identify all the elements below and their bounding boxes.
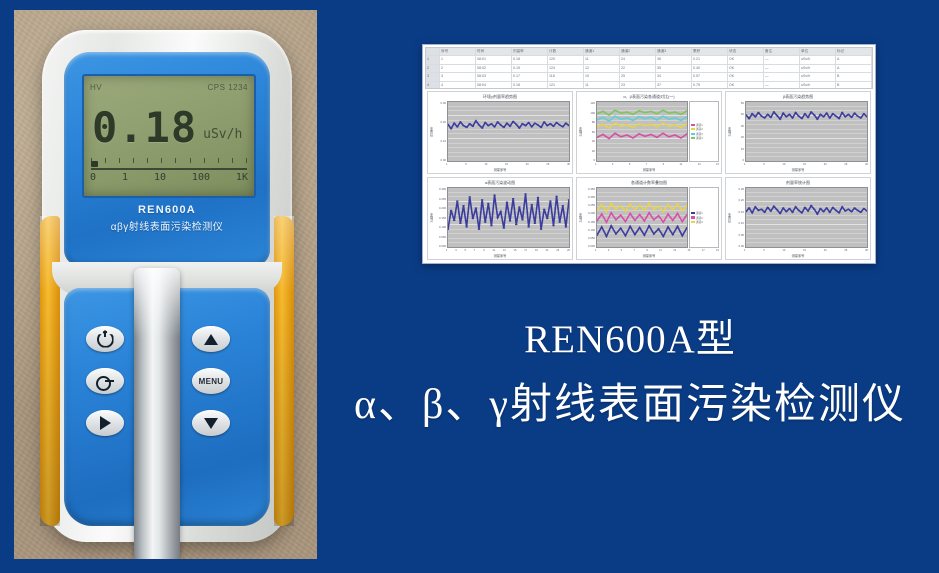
- chart-y-tick: 0.050: [434, 235, 446, 239]
- chart-body: 计数率120100806040200通道1通道2通道3通道4: [577, 100, 721, 162]
- power-button[interactable]: [86, 326, 124, 352]
- chart-y-axis-label: 剂量率: [727, 213, 732, 223]
- chart-legend-swatch: [691, 133, 695, 135]
- chart-legend-swatch: [691, 212, 695, 214]
- key-icon: [96, 376, 114, 387]
- chart-plot-area: [596, 187, 688, 248]
- table-column-header: 剂量率: [512, 48, 548, 55]
- table-cell: 08:04: [476, 82, 512, 89]
- table-cell: OK: [728, 73, 764, 80]
- table-cell: 08:01: [476, 56, 512, 63]
- table-cell: uSv/h: [800, 82, 836, 89]
- table-cell: 0.75: [692, 82, 728, 89]
- chart-plot-area: [447, 187, 570, 248]
- lcd-reading: 0.18 uSv/h: [92, 102, 248, 154]
- chart-y-tick: 0.150: [434, 216, 446, 220]
- chart-y-tick: 100: [583, 111, 595, 115]
- row-header-cell: 1: [426, 56, 440, 63]
- table-cell: 120: [548, 56, 584, 63]
- table-cell: 121: [548, 82, 584, 89]
- chart-legend-label: 通道4: [696, 136, 703, 140]
- chart-legend-item: 通道4: [691, 136, 717, 140]
- table-column-header: 通道1: [584, 48, 620, 55]
- chart-y-tick: 0.150: [583, 220, 595, 224]
- chart-x-axis-label: 测量序号: [726, 253, 870, 259]
- chart-legend-label: 通道2: [696, 216, 703, 220]
- device-model-description: αβγ射线表面污染检测仪: [64, 218, 270, 233]
- lcd-status-right: CPS 1234: [208, 83, 248, 92]
- upper-faceplate: HV CPS 1234 0.18 uSv/h 0: [64, 52, 270, 266]
- chart-x-axis-label: 测量序号: [577, 167, 721, 173]
- chart-x-axis-label: 测量序号: [726, 167, 870, 173]
- lcd-status-row: HV CPS 1234: [90, 81, 248, 94]
- row-header-cell: [426, 48, 440, 55]
- chart-y-tick: 0.050: [583, 236, 595, 240]
- arrow-up-icon: [204, 334, 218, 345]
- table-cell: 0.19: [512, 65, 548, 72]
- table-cell: B: [836, 82, 872, 89]
- device-photograph: HV CPS 1234 0.18 uSv/h 0: [14, 10, 317, 559]
- table-column-header: 累积: [692, 48, 728, 55]
- table-cell: 08:02: [476, 65, 512, 72]
- chart-legend: 通道1通道2通道3: [689, 187, 719, 248]
- chart-legend-item: 通道3: [691, 220, 717, 224]
- table-row: 2208:020.191241222350.40OK—uSv/hA: [426, 65, 872, 73]
- row-header-cell: 3: [426, 73, 440, 80]
- table-cell: 34: [656, 73, 692, 80]
- table-cell: 4: [440, 82, 476, 89]
- table-cell: OK: [728, 65, 764, 72]
- chart-card: β表面污染趋势图计数率50403020100151015202530测量序号: [725, 91, 871, 174]
- table-cell: uSv/h: [800, 65, 836, 72]
- chart-y-tick: 0.100: [583, 228, 595, 232]
- chart-legend-label: 通道1: [696, 211, 703, 215]
- chart-y-ticks: 0.250.200.150.100.050.00: [732, 187, 745, 248]
- chart-body: 计数率50403020100: [726, 100, 870, 162]
- lcd-scale-tick: 10: [154, 172, 166, 183]
- chart-y-tick: 0.300: [583, 195, 595, 199]
- chart-y-tick: 0.100: [434, 225, 446, 229]
- lcd-scale-tick: 100: [192, 172, 210, 183]
- table-cell: A: [836, 65, 872, 72]
- chart-y-tick: 0.30: [434, 101, 446, 105]
- product-description-title: α、β、γ射线表面污染检测仪: [330, 379, 930, 432]
- table-cell: 0.21: [692, 56, 728, 63]
- chart-y-tick: 30: [732, 124, 744, 128]
- chart-y-tick: 20: [732, 135, 744, 139]
- software-screenshot-panel: 序号时间剂量率计数通道1通道2通道3累积状态备注单位标记1108:010.181…: [422, 44, 876, 264]
- chart-x-axis-label: 测量序号: [428, 167, 572, 173]
- chart-legend-item: 通道2: [691, 127, 717, 131]
- chart-y-tick: 0.250: [434, 197, 446, 201]
- table-cell: 124: [548, 65, 584, 72]
- table-cell: uSv/h: [800, 56, 836, 63]
- chart-y-tick: 0.20: [732, 198, 744, 202]
- lcd-unit: uSv/h: [203, 127, 242, 142]
- chart-y-ticks: 0.3000.2500.2000.1500.1000.0500.000: [434, 187, 447, 248]
- chart-y-tick: 0.350: [583, 187, 595, 191]
- key-button[interactable]: [86, 368, 124, 394]
- chart-legend-swatch: [691, 216, 695, 218]
- table-cell: 23: [620, 82, 656, 89]
- chart-legend-label: 通道2: [696, 127, 703, 131]
- chart-y-tick: 0.10: [732, 221, 744, 225]
- chart-plot-area: [447, 101, 570, 162]
- chart-plot-area: [745, 101, 868, 162]
- chart-body: 计数率0.3500.3000.2500.2000.1500.1000.0500.…: [577, 186, 721, 248]
- table-cell: OK: [728, 82, 764, 89]
- chart-card: α表面污染波动图计数率0.3000.2500.2000.1500.1000.05…: [427, 177, 573, 260]
- chart-card: α、β表面污染各通道对比(一)计数率120100806040200通道1通道2通…: [576, 91, 722, 174]
- chart-legend-item: 通道1: [691, 123, 717, 127]
- chart-y-tick: 0.15: [732, 210, 744, 214]
- chart-card: 环境γ剂量率趋势图剂量率0.300.200.100.00151015202530…: [427, 91, 573, 174]
- table-cell: 0.17: [512, 73, 548, 80]
- play-icon: [100, 416, 111, 430]
- chart-y-tick: 80: [583, 120, 595, 124]
- play-button[interactable]: [86, 410, 124, 436]
- table-row: 1108:010.181201124360.21OK—uSv/hA: [426, 56, 872, 64]
- table-cell: 1: [440, 56, 476, 63]
- chart-y-ticks: 120100806040200: [583, 101, 596, 162]
- chart-legend-swatch: [691, 137, 695, 139]
- table-cell: 0.40: [692, 65, 728, 72]
- chart-y-tick: 20: [583, 149, 595, 153]
- chart-y-ticks: 0.300.200.100.00: [434, 101, 447, 162]
- chart-y-tick: 40: [583, 139, 595, 143]
- chart-legend-label: 通道3: [696, 220, 703, 224]
- table-cell: 35: [656, 65, 692, 72]
- chart-y-tick: 0.200: [583, 211, 595, 215]
- lcd-display: HV CPS 1234 0.18 uSv/h 0: [82, 74, 256, 198]
- chart-y-tick: 120: [583, 101, 595, 105]
- poster-canvas: HV CPS 1234 0.18 uSv/h 0: [0, 0, 939, 573]
- table-header-row: 序号时间剂量率计数通道1通道2通道3累积状态备注单位标记: [426, 48, 872, 56]
- device-model-print: REN600A αβγ射线表面污染检测仪: [64, 204, 270, 233]
- table-cell: —: [764, 82, 800, 89]
- table-cell: 10: [584, 73, 620, 80]
- table-cell: uSv/h: [800, 73, 836, 80]
- menu-button[interactable]: MENU: [192, 368, 230, 394]
- chart-legend-label: 通道3: [696, 132, 703, 136]
- chart-plot-area: [745, 187, 868, 248]
- lcd-status-left: HV: [90, 83, 102, 92]
- chart-body: 剂量率0.250.200.150.100.050.00: [726, 186, 870, 248]
- table-column-header: 备注: [764, 48, 800, 55]
- arrow-down-icon: [204, 418, 218, 429]
- chart-legend-item: 通道2: [691, 216, 717, 220]
- chart-legend-item: 通道3: [691, 132, 717, 136]
- table-cell: 24: [620, 56, 656, 63]
- chart-y-tick: 0.200: [434, 206, 446, 210]
- lcd-scale-tick: 1K: [236, 172, 248, 183]
- table-column-header: 通道2: [620, 48, 656, 55]
- table-column-header: 单位: [800, 48, 836, 55]
- chart-plot-area: [596, 101, 688, 162]
- table-cell: 37: [656, 82, 692, 89]
- table-cell: 11: [584, 56, 620, 63]
- chart-legend-swatch: [691, 124, 695, 126]
- chart-y-tick: 0.25: [732, 187, 744, 191]
- chart-legend-swatch: [691, 128, 695, 130]
- product-model-title: REN600A型: [330, 318, 930, 363]
- down-button[interactable]: [192, 410, 230, 436]
- row-header-cell: 2: [426, 65, 440, 72]
- chart-y-tick: 0.20: [434, 120, 446, 124]
- chart-y-tick: 0.10: [434, 139, 446, 143]
- table-cell: 25: [620, 73, 656, 80]
- device-handle-strap: [134, 268, 180, 559]
- lcd-scale-labels: 0 1 10 100 1K: [90, 172, 248, 188]
- chart-card: 各通道计数率叠加图计数率0.3500.3000.2500.2000.1500.1…: [576, 177, 722, 260]
- table-column-header: 状态: [728, 48, 764, 55]
- up-button[interactable]: [192, 326, 230, 352]
- table-column-header: 标记: [836, 48, 872, 55]
- title-block: REN600A型 α、β、γ射线表面污染检测仪: [330, 318, 930, 431]
- chart-y-ticks: 0.3500.3000.2500.2000.1500.1000.0500.000: [583, 187, 596, 248]
- chart-y-axis-label: 计数率: [578, 213, 583, 223]
- table-row: 4408:040.181211123370.75OK—uSv/hB: [426, 82, 872, 89]
- power-icon: [97, 331, 114, 348]
- chart-y-tick: 0.250: [583, 203, 595, 207]
- table-column-header: 通道3: [656, 48, 692, 55]
- chart-body: 计数率0.3000.2500.2000.1500.1000.0500.000: [428, 186, 572, 248]
- table-cell: 2: [440, 65, 476, 72]
- menu-button-label: MENU: [199, 377, 224, 386]
- lcd-value: 0.18: [92, 107, 197, 149]
- table-cell: 0.18: [512, 82, 548, 89]
- chart-x-axis-label: 测量序号: [577, 253, 721, 259]
- chart-y-axis-label: 计数率: [429, 213, 434, 223]
- row-header-cell: 4: [426, 82, 440, 89]
- table-cell: 08:03: [476, 73, 512, 80]
- table-cell: 22: [620, 65, 656, 72]
- chart-body: 剂量率0.300.200.100.00: [428, 100, 572, 162]
- table-cell: 118: [548, 73, 584, 80]
- chart-y-axis-label: 计数率: [727, 127, 732, 137]
- chart-x-axis-label: 测量序号: [428, 253, 572, 259]
- table-cell: 11: [584, 82, 620, 89]
- device-model-name: REN600A: [64, 204, 270, 216]
- table-cell: 12: [584, 65, 620, 72]
- chart-y-ticks: 50403020100: [732, 101, 745, 162]
- lcd-scale-tick: 0: [90, 172, 96, 183]
- chart-legend-swatch: [691, 221, 695, 223]
- lcd-bargraph: [91, 160, 247, 170]
- chart-y-axis-label: 计数率: [578, 127, 583, 137]
- handheld-detector: HV CPS 1234 0.18 uSv/h 0: [42, 30, 292, 542]
- table-cell: —: [764, 65, 800, 72]
- table-cell: 0.18: [512, 56, 548, 63]
- table-column-header: 时间: [476, 48, 512, 55]
- data-table: 序号时间剂量率计数通道1通道2通道3累积状态备注单位标记1108:010.181…: [425, 47, 873, 89]
- lcd-bargraph-fill: [91, 161, 98, 167]
- chart-card: 剂量率统计图剂量率0.250.200.150.100.050.001510152…: [725, 177, 871, 260]
- table-column-header: 序号: [440, 48, 476, 55]
- table-cell: 36: [656, 56, 692, 63]
- table-cell: A: [836, 56, 872, 63]
- table-column-header: 计数: [548, 48, 584, 55]
- table-cell: B: [836, 73, 872, 80]
- chart-y-tick: 0.300: [434, 187, 446, 191]
- chart-legend-item: 通道1: [691, 211, 717, 215]
- chart-y-tick: 10: [732, 147, 744, 151]
- table-cell: 3: [440, 73, 476, 80]
- lcd-scale-tick: 1: [122, 172, 128, 183]
- chart-y-axis-label: 剂量率: [429, 127, 434, 137]
- table-row: 3308:030.171181025340.57OK—uSv/hB: [426, 73, 872, 81]
- chart-legend: 通道1通道2通道3通道4: [689, 101, 719, 162]
- chart-legend-label: 通道1: [696, 123, 703, 127]
- chart-grid: 环境γ剂量率趋势图剂量率0.300.200.100.00151015202530…: [427, 91, 871, 260]
- table-cell: —: [764, 73, 800, 80]
- table-cell: OK: [728, 56, 764, 63]
- chart-y-tick: 50: [732, 101, 744, 105]
- table-cell: —: [764, 56, 800, 63]
- table-cell: 0.57: [692, 73, 728, 80]
- chart-y-tick: 0.05: [732, 233, 744, 237]
- chart-y-tick: 40: [732, 112, 744, 116]
- chart-y-tick: 60: [583, 130, 595, 134]
